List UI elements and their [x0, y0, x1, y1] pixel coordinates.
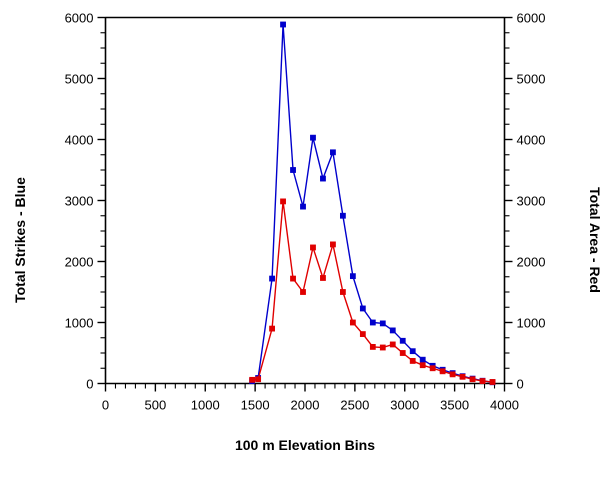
y-axis-right-tick-label: 2000: [517, 255, 546, 270]
x-axis-title: 100 m Elevation Bins: [105, 437, 505, 453]
data-point-marker: [410, 349, 415, 354]
data-point-marker: [340, 289, 345, 294]
data-point-marker: [400, 350, 405, 355]
y-axis-left-tick-label: 1000: [65, 316, 94, 331]
x-axis-tick-label: 3000: [390, 398, 419, 413]
data-point-marker: [330, 150, 335, 155]
data-point-marker: [470, 377, 475, 382]
y-axis-left-tick-label: 2000: [65, 255, 94, 270]
data-point-marker: [280, 199, 285, 204]
axes-layer: 0500100015002000250030003500400000100010…: [65, 11, 546, 413]
y-axis-left-tick-label: 0: [86, 377, 93, 392]
data-point-marker: [310, 135, 315, 140]
y-axis-right-tick-label: 3000: [517, 194, 546, 209]
x-axis-tick-label: 2000: [291, 398, 320, 413]
data-point-marker: [320, 275, 325, 280]
data-point-marker: [330, 242, 335, 247]
data-point-marker: [380, 321, 385, 326]
data-point-marker: [290, 276, 295, 281]
x-axis-tick-label: 1000: [191, 398, 220, 413]
y-axis-left-tick-label: 5000: [65, 72, 94, 87]
data-point-marker: [420, 357, 425, 362]
data-point-marker: [300, 289, 305, 294]
chart-figure: Total Strikes - Blue Total Area - Red 10…: [0, 0, 615, 480]
data-point-marker: [380, 345, 385, 350]
plot-canvas: 0500100015002000250030003500400000100010…: [0, 0, 615, 480]
x-axis-tick-label: 4000: [490, 398, 519, 413]
data-point-marker: [269, 326, 274, 331]
y-axis-right-tick-label: 0: [517, 377, 524, 392]
data-point-marker: [256, 377, 261, 382]
y-axis-left-tick-label: 3000: [65, 194, 94, 209]
data-point-marker: [300, 204, 305, 209]
data-point-marker: [490, 379, 495, 384]
data-point-marker: [250, 377, 255, 382]
data-point-marker: [360, 331, 365, 336]
y-axis-right-title: Total Area - Red: [575, 40, 615, 440]
series-layer: [250, 22, 496, 385]
data-point-marker: [420, 363, 425, 368]
series-line-total-area-red: [252, 201, 492, 382]
y-axis-right-tick-label: 1000: [517, 316, 546, 331]
data-point-marker: [390, 342, 395, 347]
data-point-marker: [360, 306, 365, 311]
data-point-marker: [400, 338, 405, 343]
data-point-marker: [410, 358, 415, 363]
data-point-marker: [280, 22, 285, 27]
data-point-marker: [370, 320, 375, 325]
data-point-marker: [340, 213, 345, 218]
y-axis-right-tick-label: 6000: [517, 11, 546, 26]
data-point-marker: [320, 176, 325, 181]
x-axis-tick-label: 0: [102, 398, 109, 413]
data-point-marker: [350, 320, 355, 325]
y-axis-left-tick-label: 6000: [65, 11, 94, 26]
data-point-marker: [390, 328, 395, 333]
data-point-marker: [440, 369, 445, 374]
data-point-marker: [370, 344, 375, 349]
data-point-marker: [460, 374, 465, 379]
x-axis-tick-label: 1500: [241, 398, 270, 413]
series-line-total-strikes-blue: [252, 25, 492, 383]
data-point-marker: [290, 167, 295, 172]
data-point-marker: [310, 245, 315, 250]
x-axis-tick-label: 500: [145, 398, 167, 413]
data-point-marker: [430, 366, 435, 371]
data-point-marker: [480, 378, 485, 383]
x-axis-tick-label: 2500: [340, 398, 369, 413]
y-axis-left-title: Total Strikes - Blue: [0, 0, 40, 480]
y-axis-left-tick-label: 4000: [65, 133, 94, 148]
data-point-marker: [350, 274, 355, 279]
data-point-marker: [450, 372, 455, 377]
y-axis-right-tick-label: 4000: [517, 133, 546, 148]
y-axis-right-tick-label: 5000: [517, 72, 546, 87]
data-point-marker: [269, 276, 274, 281]
x-axis-tick-label: 3500: [440, 398, 469, 413]
